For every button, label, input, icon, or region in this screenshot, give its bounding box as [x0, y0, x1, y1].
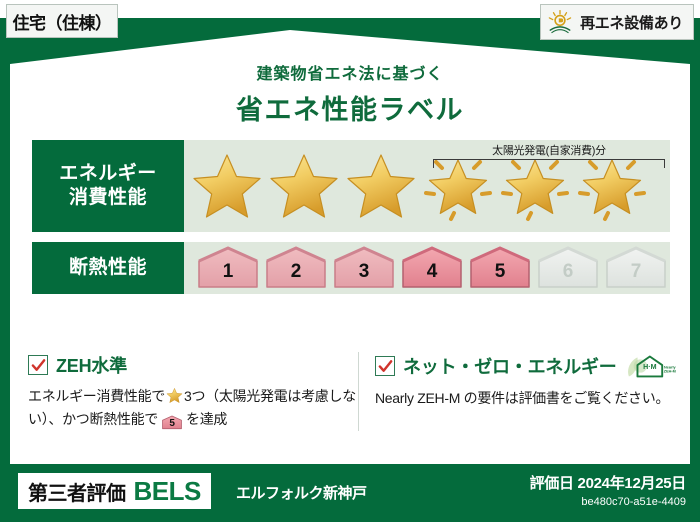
- net-zero-body: Nearly ZEH-M の要件は評価書をご覧ください。: [375, 387, 678, 410]
- inline-star-icon: [166, 387, 183, 404]
- zeh-standard-checkbox: [28, 355, 48, 375]
- energy-performance-row: エネルギー 消費性能 太陽光発電(自家消費)分: [32, 140, 670, 232]
- zeh-body-star-count: 3つ（太陽光発電: [184, 388, 287, 404]
- energy-performance-label: 住宅（住棟） 再エネ設備あり 建築物省エネ法に基づく 省エネ性能ラベル: [0, 0, 700, 522]
- insulation-level-1: 1: [196, 245, 260, 291]
- bels-logo-text: BELS: [134, 476, 201, 507]
- title-main: 省エネ性能ラベル: [0, 88, 700, 127]
- zeh-body-part-3: を達成: [186, 411, 227, 427]
- category-tag-label: 住宅（住棟）: [13, 9, 112, 34]
- zeh-body-part-1: エネルギー消費性能で: [28, 388, 165, 404]
- inline-house-number: 5: [160, 415, 184, 433]
- zeh-standard-heading: ZEH水準: [28, 352, 358, 378]
- insulation-level-scale: 1 2 3: [196, 242, 670, 294]
- energy-performance-label: エネルギー 消費性能: [32, 140, 184, 232]
- evaluation-info: 評価日 2024年12月25日 be480c70-a51e-4409: [530, 472, 686, 508]
- insulation-level-2: 2: [264, 245, 328, 291]
- building-name: エルフォルク新神戸: [236, 482, 367, 503]
- svg-text:ZEH-M: ZEH-M: [663, 370, 675, 374]
- insulation-level-number: 2: [291, 261, 302, 283]
- insulation-level-7: 7: [604, 245, 668, 291]
- evaluation-date: 評価日 2024年12月25日: [530, 472, 686, 493]
- svg-text:H·M: H·M: [643, 363, 657, 371]
- evaluation-id: be480c70-a51e-4409: [530, 496, 686, 508]
- energy-label-line-1: エネルギー: [59, 162, 157, 186]
- net-zero-energy-note: ネット・ゼロ・エネルギー H·M Nearly ZEH-M Nearly ZEH…: [358, 352, 678, 431]
- insulation-level-number: 1: [223, 261, 234, 283]
- label-title-block: 建築物省エネ法に基づく 省エネ性能ラベル: [0, 60, 700, 127]
- insulation-level-3: 3: [332, 245, 396, 291]
- insulation-level-number: 3: [359, 261, 370, 283]
- zeh-standard-title: ZEH水準: [56, 352, 127, 378]
- notes-section: ZEH水準 エネルギー消費性能で3つ（太陽光発電は考慮しない）、かつ断熱性能で5…: [28, 352, 678, 431]
- net-zero-title: ネット・ゼロ・エネルギー: [403, 353, 617, 379]
- star-icon: [267, 149, 341, 223]
- net-zero-heading: ネット・ゼロ・エネルギー H·M Nearly ZEH-M: [375, 352, 678, 380]
- insulation-level-number: 5: [495, 261, 506, 283]
- renewable-energy-badge: 再エネ設備あり: [540, 4, 694, 40]
- star-sparkle-icon: [421, 149, 495, 223]
- star-4-solar: [419, 143, 496, 229]
- star-rating: [188, 140, 670, 232]
- zeh-m-logo-icon: H·M Nearly ZEH-M: [627, 352, 678, 380]
- star-sparkle-icon: [575, 149, 649, 223]
- bels-jp-label: 第三者評価: [28, 477, 126, 506]
- energy-label-line-2: 消費性能: [69, 186, 147, 210]
- label-footer: 第三者評価 BELS エルフォルク新神戸 評価日 2024年12月25日 be4…: [0, 464, 700, 522]
- star-3: [342, 143, 419, 229]
- star-6-solar: [573, 143, 650, 229]
- insulation-level-number: 7: [631, 261, 642, 283]
- insulation-performance-row: 断熱性能: [32, 242, 670, 294]
- insulation-performance-value: 1 2 3: [184, 242, 670, 294]
- insulation-performance-label: 断熱性能: [32, 242, 184, 294]
- insulation-level-4: 4: [400, 245, 464, 291]
- zeh-standard-note: ZEH水準 エネルギー消費性能で3つ（太陽光発電は考慮しない）、かつ断熱性能で5…: [28, 352, 358, 431]
- star-sparkle-icon: [498, 149, 572, 223]
- net-zero-checkbox: [375, 356, 395, 376]
- insulation-level-number: 4: [427, 261, 438, 283]
- insulation-level-6: 6: [536, 245, 600, 291]
- inline-house-badge: 5: [160, 415, 184, 430]
- star-icon: [344, 149, 418, 223]
- renewable-badge-label: 再エネ設備あり: [580, 12, 683, 33]
- check-icon: [31, 358, 46, 373]
- energy-performance-value: 太陽光発電(自家消費)分: [184, 140, 670, 232]
- insulation-level-number: 6: [563, 261, 574, 283]
- zeh-standard-body: エネルギー消費性能で3つ（太陽光発電は考慮しない）、かつ断熱性能で5を達成: [28, 385, 358, 431]
- sun-icon: [547, 9, 573, 35]
- title-subtitle: 建築物省エネ法に基づく: [0, 60, 700, 84]
- category-tag: 住宅（住棟）: [6, 4, 118, 38]
- svg-text:Nearly: Nearly: [664, 365, 676, 369]
- bels-plate: 第三者評価 BELS: [18, 473, 211, 509]
- insulation-label-line-1: 断熱性能: [69, 256, 147, 280]
- star-2: [265, 143, 342, 229]
- insulation-level-5: 5: [468, 245, 532, 291]
- star-icon: [190, 149, 264, 223]
- check-icon: [378, 359, 393, 374]
- performance-rows: エネルギー 消費性能 太陽光発電(自家消費)分: [32, 140, 670, 304]
- star-5-solar: [496, 143, 573, 229]
- star-1: [188, 143, 265, 229]
